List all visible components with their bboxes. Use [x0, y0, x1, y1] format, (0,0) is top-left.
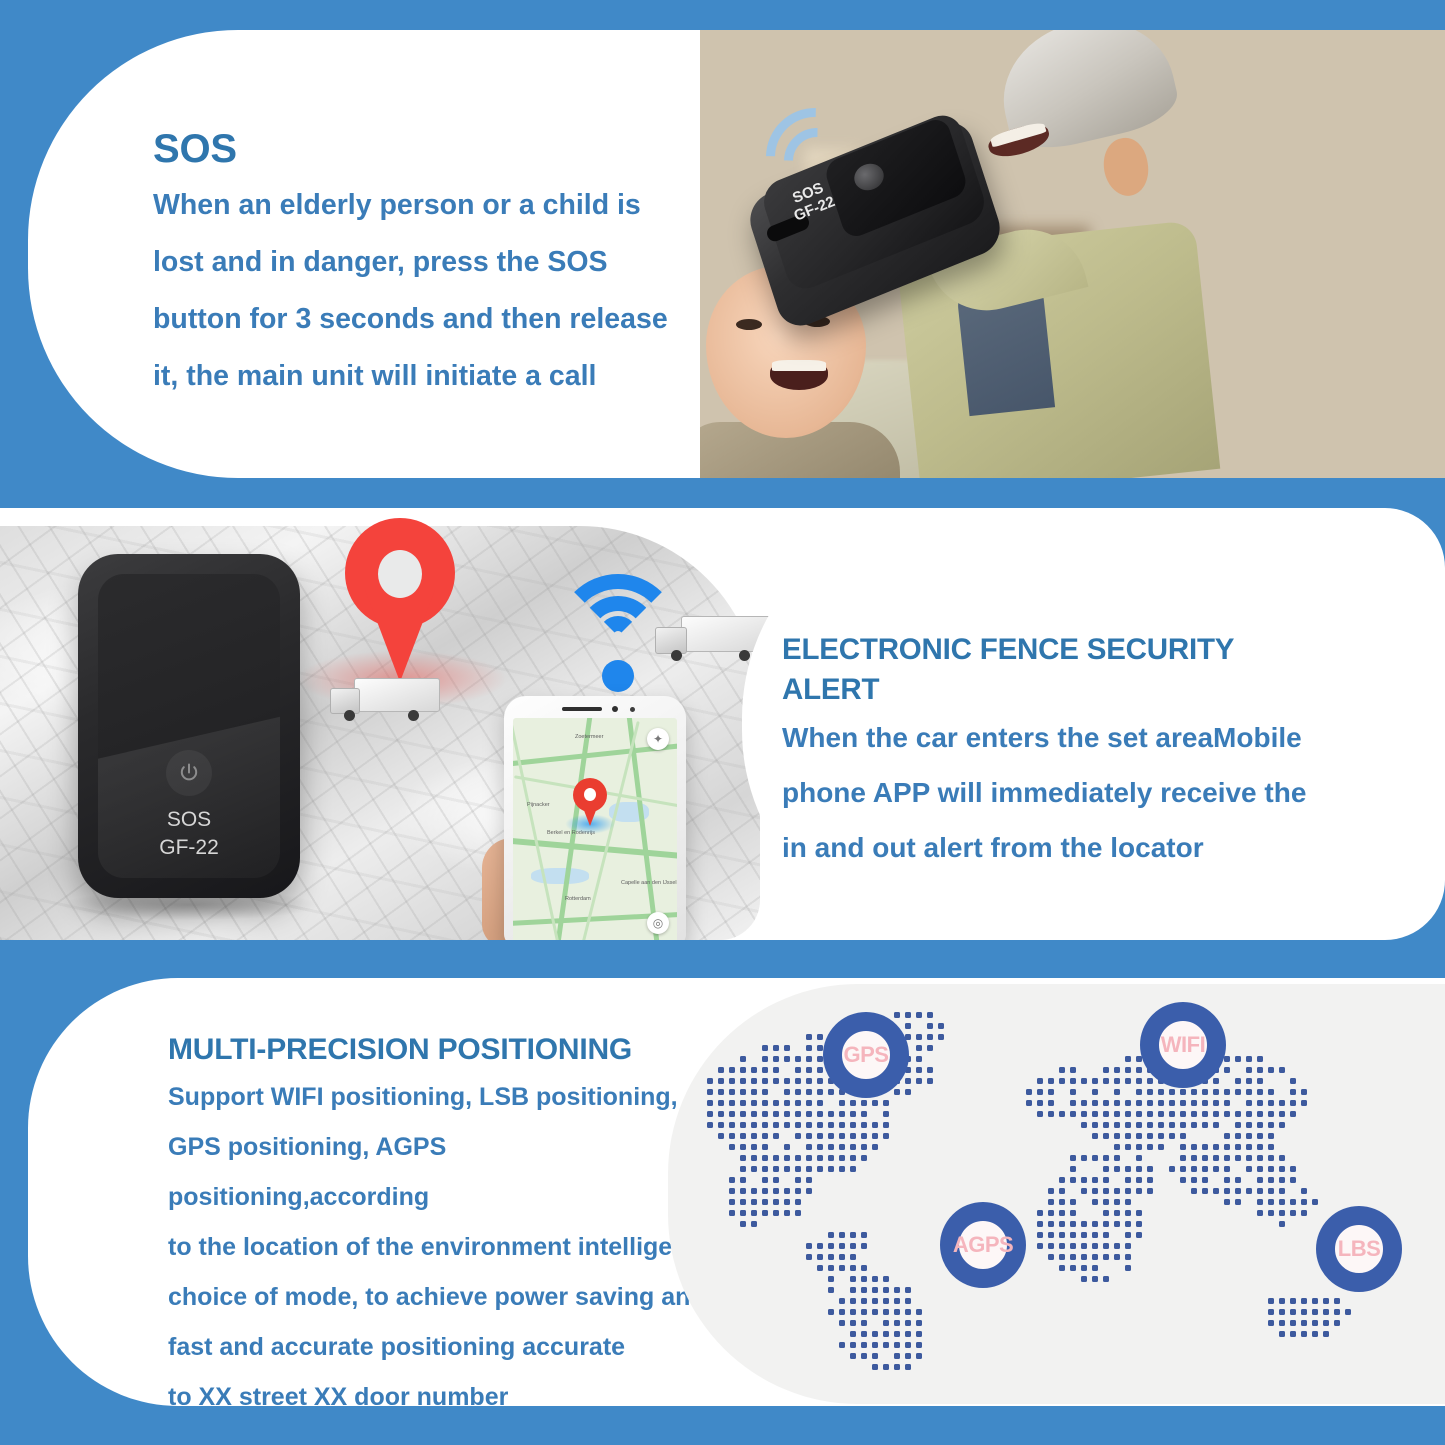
positioning-pin-gps[interactable]: GPS [823, 1012, 909, 1112]
panel-body-line: to the location of the environment intel… [168, 1222, 708, 1272]
panel-title: ELECTRONIC FENCE SECURITY ALERT [782, 630, 1322, 710]
pin-tail [365, 590, 435, 682]
compass-icon[interactable]: ✦ [647, 728, 669, 750]
positioning-pin-wifi[interactable]: WIFI [1140, 1002, 1226, 1102]
panel-body-line: fast and accurate positioning accurate [168, 1322, 708, 1372]
truck-cab [330, 688, 360, 714]
map-place-label: Capelle aan den IJssel [621, 880, 677, 886]
pin-label: WIFI [1140, 1002, 1226, 1088]
phone-camera-icon [612, 706, 618, 712]
truck-icon [330, 678, 440, 726]
map-water [531, 868, 589, 884]
map-place-label: Pijnacker [527, 802, 550, 808]
panel-body-line: to XX street XX door number [168, 1372, 708, 1406]
panel-body-line: Support WIFI positioning, LSB positionin… [168, 1072, 708, 1122]
phone-speaker [562, 707, 602, 711]
sos-text-block: SOS When an elderly person or a child is… [153, 125, 718, 405]
locate-icon[interactable]: ◎ [647, 912, 669, 934]
child-teeth [772, 360, 826, 371]
phone-map-screen[interactable]: Zoetermeer Rotterdam Berkel en Rodenrijs… [513, 718, 677, 940]
electronic-fence-text-block: ELECTRONIC FENCE SECURITY ALERT When the… [782, 630, 1322, 875]
pin-label: AGPS [940, 1202, 1026, 1288]
pin-tail [580, 800, 600, 826]
wifi-dot [602, 660, 634, 692]
dotted-world-map [668, 984, 1445, 1404]
map-pin-icon [573, 778, 607, 826]
panel-title: SOS [153, 125, 718, 173]
positioning-pin-agps[interactable]: AGPS [940, 1202, 1026, 1302]
device-brand-line-1: SOS [78, 806, 300, 834]
wifi-icon [556, 574, 680, 698]
pin-label: LBS [1316, 1206, 1402, 1292]
map-place-label: Rotterdam [565, 896, 591, 902]
panel-electronic-fence: Zoetermeer Rotterdam Berkel en Rodenrijs… [0, 508, 1445, 940]
panel-body-line: in and out alert from the locator [782, 820, 1322, 875]
wifi-arc [598, 616, 638, 656]
panel-body-line: phone APP will immediately receive the [782, 765, 1322, 820]
truck-trailer [354, 678, 440, 712]
panel-body-line: it, the main unit will initiate a call [153, 348, 718, 405]
phone-sensor [630, 707, 635, 712]
panel-body-line: When an elderly person or a child is [153, 177, 718, 234]
panel-body-line: GPS positioning, AGPS positioning,accord… [168, 1122, 708, 1222]
panel-multi-precision-positioning: MULTI-PRECISION POSITIONING Support WIFI… [28, 978, 1445, 1406]
panel-title: MULTI-PRECISION POSITIONING [168, 1028, 708, 1072]
electronic-fence-text-card: ELECTRONIC FENCE SECURITY ALERT When the… [742, 508, 1322, 940]
truck-wheel [408, 710, 419, 721]
infographic-stage: SOS GF-22 SOS When an elderly person or … [0, 0, 1445, 1445]
panel-body-line: When the car enters the set areaMobile [782, 710, 1322, 765]
map-place-label: Zoetermeer [575, 734, 603, 740]
positioning-pin-lbs[interactable]: LBS [1316, 1206, 1402, 1306]
pin-label: GPS [823, 1012, 909, 1098]
panel-sos: SOS GF-22 SOS When an elderly person or … [28, 30, 1445, 478]
pin-hole [584, 788, 596, 801]
device-brand-line-2: GF-22 [78, 834, 300, 862]
map-pin-icon [345, 518, 455, 688]
panel-body-line: lost and in danger, press the SOS [153, 234, 718, 291]
truck-wheel [344, 710, 355, 721]
gps-tracker-device: SOS GF-22 [738, 102, 1018, 332]
panel-body-line: button for 3 seconds and then release [153, 291, 718, 348]
world-map-panel: GPSWIFIAGPSLBS [668, 984, 1445, 1404]
device-brand-label: SOS GF-22 [78, 806, 300, 862]
smartphone: Zoetermeer Rotterdam Berkel en Rodenrijs… [504, 696, 686, 940]
truck-wheel [739, 650, 750, 661]
panel-body-line: choice of mode, to achieve power saving … [168, 1272, 708, 1322]
positioning-text-block: MULTI-PRECISION POSITIONING Support WIFI… [168, 1028, 708, 1406]
gps-tracker-device: SOS GF-22 [78, 554, 300, 898]
pin-hole [378, 550, 422, 598]
power-button-icon[interactable] [166, 750, 212, 796]
